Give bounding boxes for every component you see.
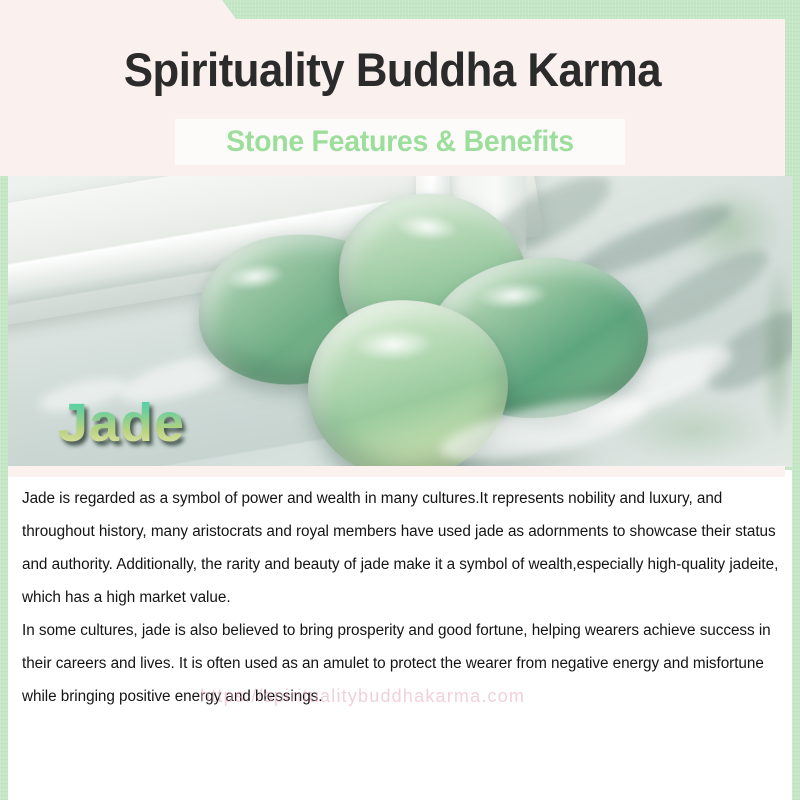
- poster-page: Spirituality Buddha Karma Stone Features…: [0, 0, 800, 800]
- photo-bottom-strip: [8, 466, 785, 477]
- page-subtitle: Stone Features & Benefits: [226, 125, 574, 159]
- body-copy: Jade is regarded as a symbol of power an…: [22, 482, 786, 713]
- subtitle-band: Stone Features & Benefits: [175, 119, 625, 165]
- body-paragraph-2: In some cultures, jade is also believed …: [22, 614, 786, 713]
- body-paragraph-1: Jade is regarded as a symbol of power an…: [22, 482, 786, 614]
- photo-caption-jade: Jade: [58, 392, 185, 454]
- page-title: Spirituality Buddha Karma: [27, 42, 757, 98]
